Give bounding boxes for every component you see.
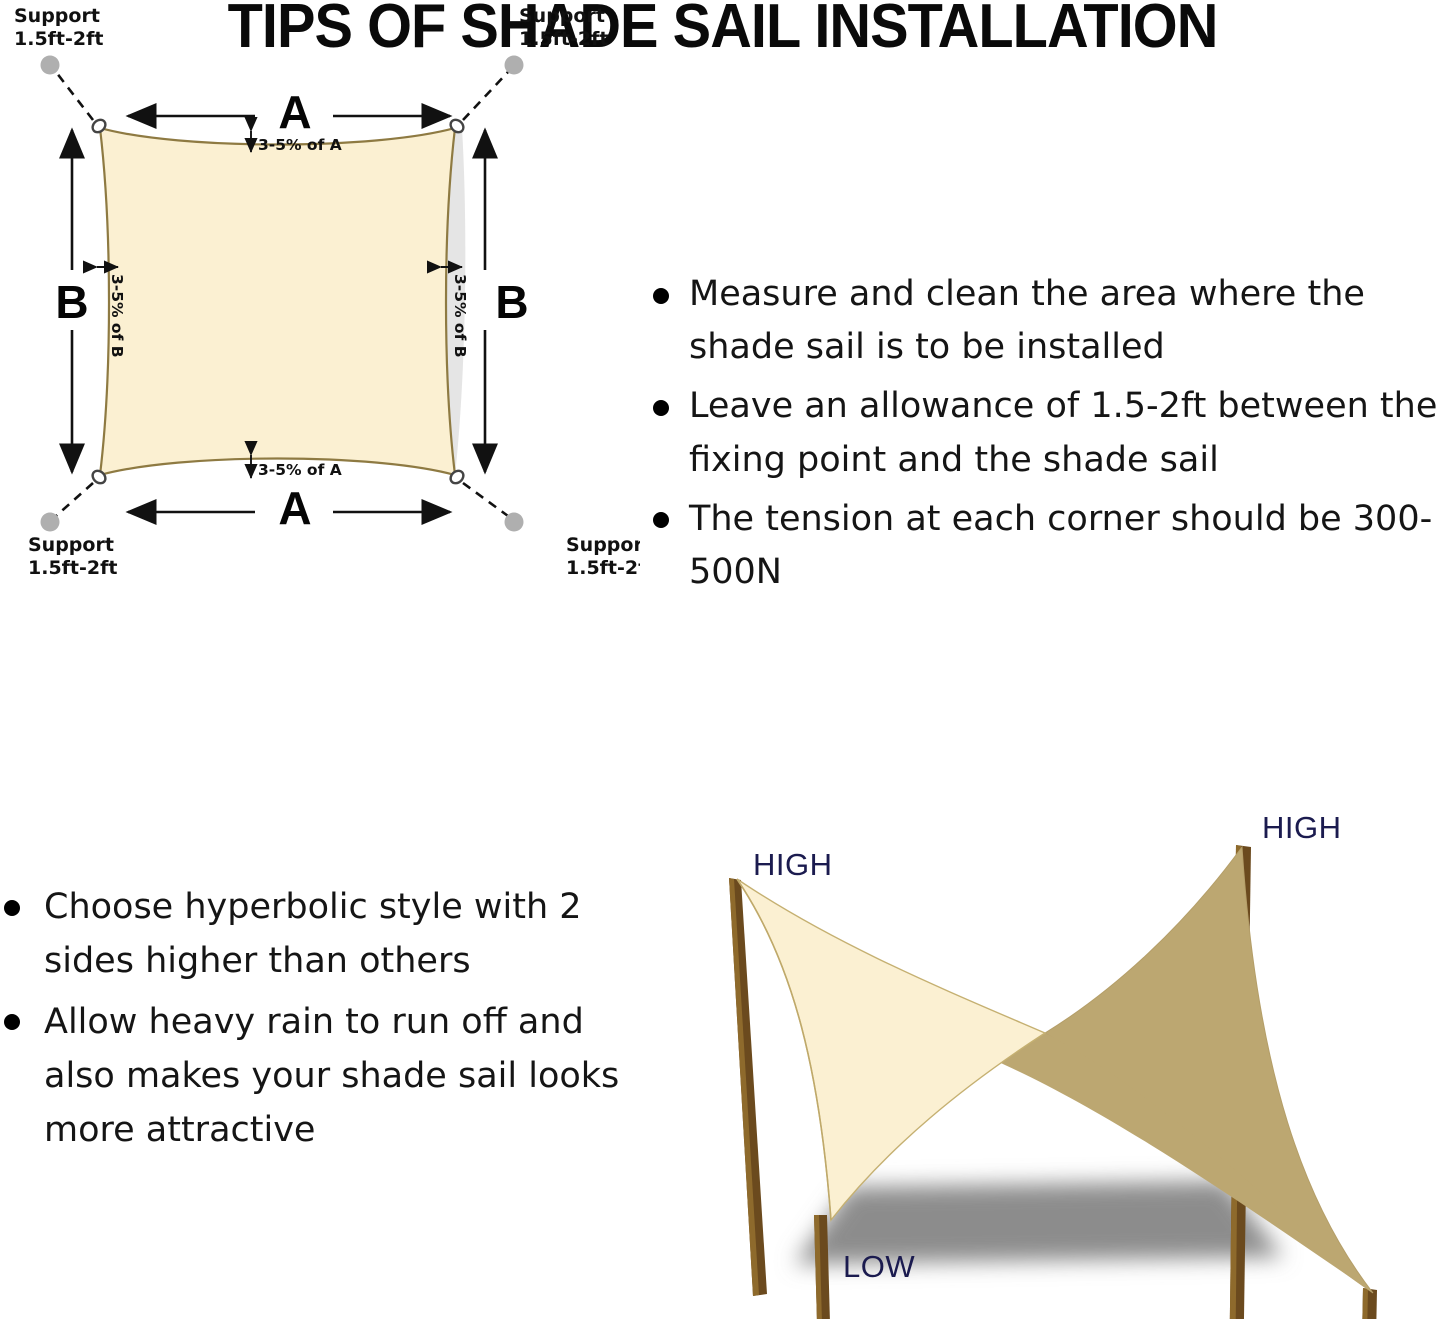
list-item: The tension at each corner should be 300… bbox=[645, 493, 1445, 599]
post-high-left bbox=[729, 878, 767, 1296]
support-label-line2: 1.5ft-2ft bbox=[14, 28, 103, 50]
list-item-text: Leave an allowance of 1.5-2ft between th… bbox=[689, 386, 1437, 479]
support-label-line2: 1.5ft-2ft bbox=[566, 557, 640, 579]
support-label-line2: 1.5ft-2ft bbox=[519, 28, 608, 50]
label-low-left: LOW bbox=[843, 1249, 915, 1284]
list-item-text: Measure and clean the area where the sha… bbox=[689, 274, 1365, 367]
bullet-dot-icon bbox=[653, 288, 669, 304]
rect-sail-diagram: Support 1.5ft-2ft Support 1.5ft-2ft Supp… bbox=[0, 0, 640, 580]
bullet-dot-icon bbox=[4, 900, 20, 916]
label-high-left: HIGH bbox=[753, 847, 833, 882]
support-label-line1: Support bbox=[14, 5, 100, 27]
curve-note-left-label: 3-5% of B bbox=[108, 274, 126, 358]
label-high-right: HIGH bbox=[1262, 810, 1342, 845]
curve-note-right-label: 3-5% of B bbox=[451, 274, 469, 358]
support-label-bottom-right: Support 1.5ft-2ft bbox=[566, 534, 640, 579]
list-item-text: Choose hyperbolic style with 2 sides hig… bbox=[44, 887, 582, 981]
bottom-tips-ul: Choose hyperbolic style with 2 sides hig… bbox=[0, 880, 620, 1157]
dimension-B-left-label: B bbox=[55, 276, 88, 328]
sail-shape bbox=[100, 128, 465, 475]
support-label-top-right: Support 1.5ft-2ft bbox=[519, 5, 608, 50]
installation-tips-list: Measure and clean the area where the sha… bbox=[645, 268, 1445, 605]
dimension-B-right-label: B bbox=[495, 276, 528, 328]
post-low-right bbox=[1358, 1288, 1377, 1319]
list-item: Measure and clean the area where the sha… bbox=[645, 268, 1445, 374]
support-label-line1: Support bbox=[566, 534, 640, 556]
list-item: Choose hyperbolic style with 2 sides hig… bbox=[0, 880, 620, 989]
list-item-text: The tension at each corner should be 300… bbox=[689, 499, 1432, 592]
hyperbolic-tips-list: Choose hyperbolic style with 2 sides hig… bbox=[0, 880, 620, 1163]
list-item: Leave an allowance of 1.5-2ft between th… bbox=[645, 380, 1445, 486]
list-item-text: Allow heavy rain to run off and also mak… bbox=[44, 1002, 619, 1151]
sail-panel-light bbox=[737, 879, 1045, 1220]
dimension-A-bottom-label: A bbox=[278, 482, 311, 534]
bullet-dot-icon bbox=[653, 512, 669, 528]
hyperbolic-sail-diagram: HIGH HIGH LOW LOW bbox=[645, 775, 1445, 1319]
curve-note-top-label: 3-5% of A bbox=[258, 136, 342, 154]
support-label-line2: 1.5ft-2ft bbox=[28, 557, 117, 579]
support-label-bottom-left: Support 1.5ft-2ft bbox=[28, 534, 117, 579]
dimension-A-top-label: A bbox=[278, 86, 311, 138]
bullet-dot-icon bbox=[4, 1014, 20, 1030]
bullet-dot-icon bbox=[653, 400, 669, 416]
support-label-line1: Support bbox=[519, 5, 605, 27]
tips-ul: Measure and clean the area where the sha… bbox=[645, 268, 1445, 599]
support-label-line1: Support bbox=[28, 534, 114, 556]
curve-note-bottom-label: 3-5% of A bbox=[258, 461, 342, 479]
support-label-top-left: Support 1.5ft-2ft bbox=[14, 5, 103, 50]
list-item: Allow heavy rain to run off and also mak… bbox=[0, 995, 620, 1158]
